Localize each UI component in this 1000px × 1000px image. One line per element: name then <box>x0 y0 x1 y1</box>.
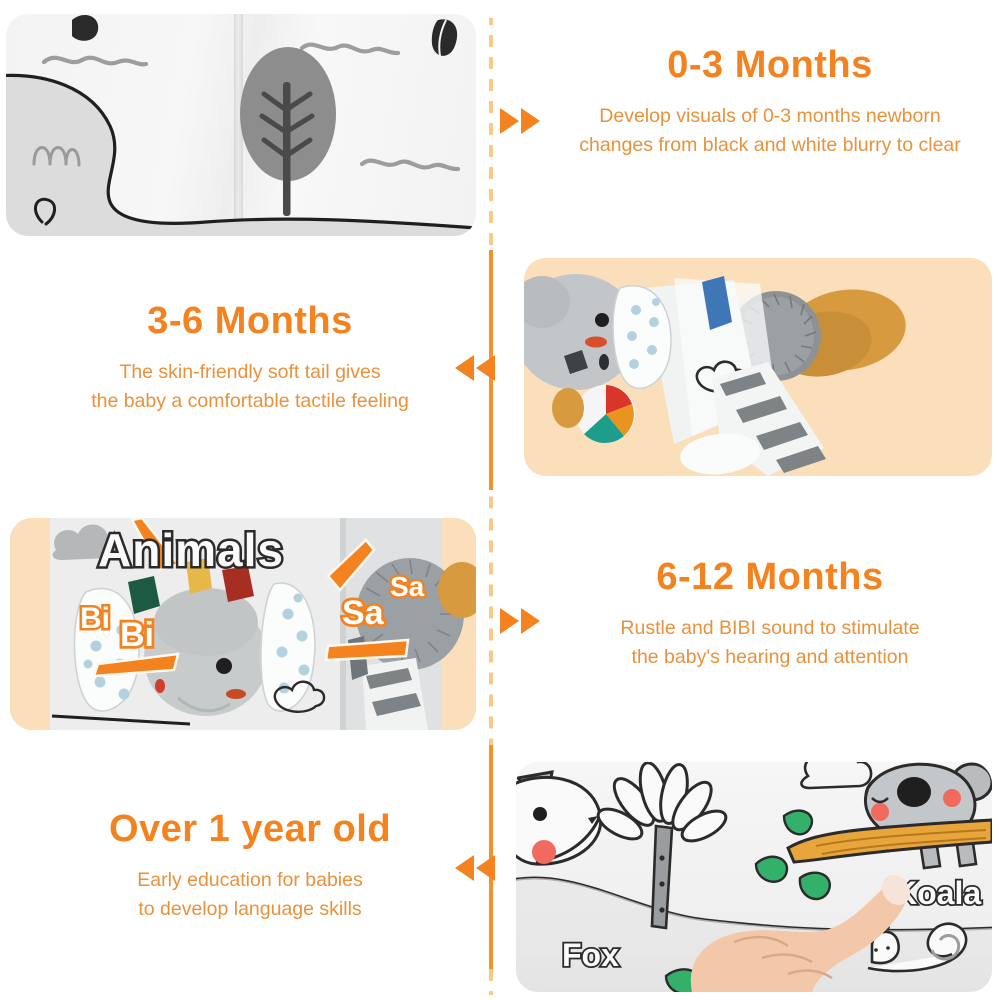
hill-and-contour-artwork <box>6 14 476 236</box>
image-card-plush-toy <box>524 258 992 476</box>
chevron-left-icon <box>476 355 495 381</box>
svg-text:Sa: Sa <box>390 571 425 602</box>
divider-dashed-bottom <box>489 965 493 995</box>
text-block-over-1-year: Over 1 year old Early education for babi… <box>35 808 465 924</box>
chevron-right-icon <box>521 608 540 634</box>
section-heading: 3-6 Months <box>35 300 465 344</box>
svg-text:Sa: Sa <box>342 594 385 632</box>
section-body: Develop visuals of 0-3 months newborn ch… <box>545 102 995 161</box>
chevron-right-icon <box>500 608 519 634</box>
svg-text:Bi: Bi <box>120 616 154 654</box>
animals-sound-page-photo: Animals Bi Bi Sa Sa <box>10 518 476 730</box>
arrow-marker-right-top <box>500 108 540 134</box>
svg-text:Animals: Animals <box>98 524 284 576</box>
text-block-age-6-12: 6-12 Months Rustle and BIBI sound to sti… <box>545 556 995 672</box>
image-card-animals-page: Animals Bi Bi Sa Sa <box>10 518 476 730</box>
body-line: Develop visuals of 0-3 months newborn <box>545 102 995 131</box>
animal-naming-page-photo: Fox Koala <box>516 762 992 992</box>
section-body: The skin-friendly soft tail gives the ba… <box>35 358 465 417</box>
body-line: to develop language skills <box>35 895 465 924</box>
text-block-age-0-3: 0-3 Months Develop visuals of 0-3 months… <box>545 44 995 160</box>
black-white-book-spread <box>6 14 476 236</box>
section-body: Rustle and BIBI sound to stimulate the b… <box>545 614 995 673</box>
section-heading: 0-3 Months <box>545 44 995 88</box>
body-line: the baby a comfortable tactile feeling <box>35 387 465 416</box>
section-body: Early education for babies to develop la… <box>35 866 465 925</box>
svg-text:Fox: Fox <box>562 937 619 973</box>
plush-toy-tail-photo <box>524 258 992 476</box>
chevron-left-icon <box>476 855 495 881</box>
image-card-black-white-book <box>6 14 476 236</box>
body-line: changes from black and white blurry to c… <box>545 131 995 160</box>
animals-page-artwork: Animals Bi Bi Sa Sa <box>10 518 476 730</box>
image-card-animal-naming-page: Fox Koala <box>516 762 992 992</box>
body-line: Rustle and BIBI sound to stimulate <box>545 614 995 643</box>
plush-toy-artwork <box>524 258 992 476</box>
body-line: The skin-friendly soft tail gives <box>35 358 465 387</box>
arrow-marker-right-bottom <box>500 608 540 634</box>
chevron-right-icon <box>500 108 519 134</box>
divider-dashed-middle <box>489 490 493 745</box>
section-heading: Over 1 year old <box>35 808 465 852</box>
infographic-page: 0-3 Months Develop visuals of 0-3 months… <box>0 0 1000 1000</box>
divider-dashed-top <box>489 18 493 250</box>
body-line: the baby's hearing and attention <box>545 643 995 672</box>
body-line: Early education for babies <box>35 866 465 895</box>
chevron-right-icon <box>521 108 540 134</box>
animal-naming-artwork: Fox Koala <box>516 762 992 992</box>
svg-text:Bi: Bi <box>80 602 110 635</box>
section-heading: 6-12 Months <box>545 556 995 600</box>
text-block-age-3-6: 3-6 Months The skin-friendly soft tail g… <box>35 300 465 416</box>
